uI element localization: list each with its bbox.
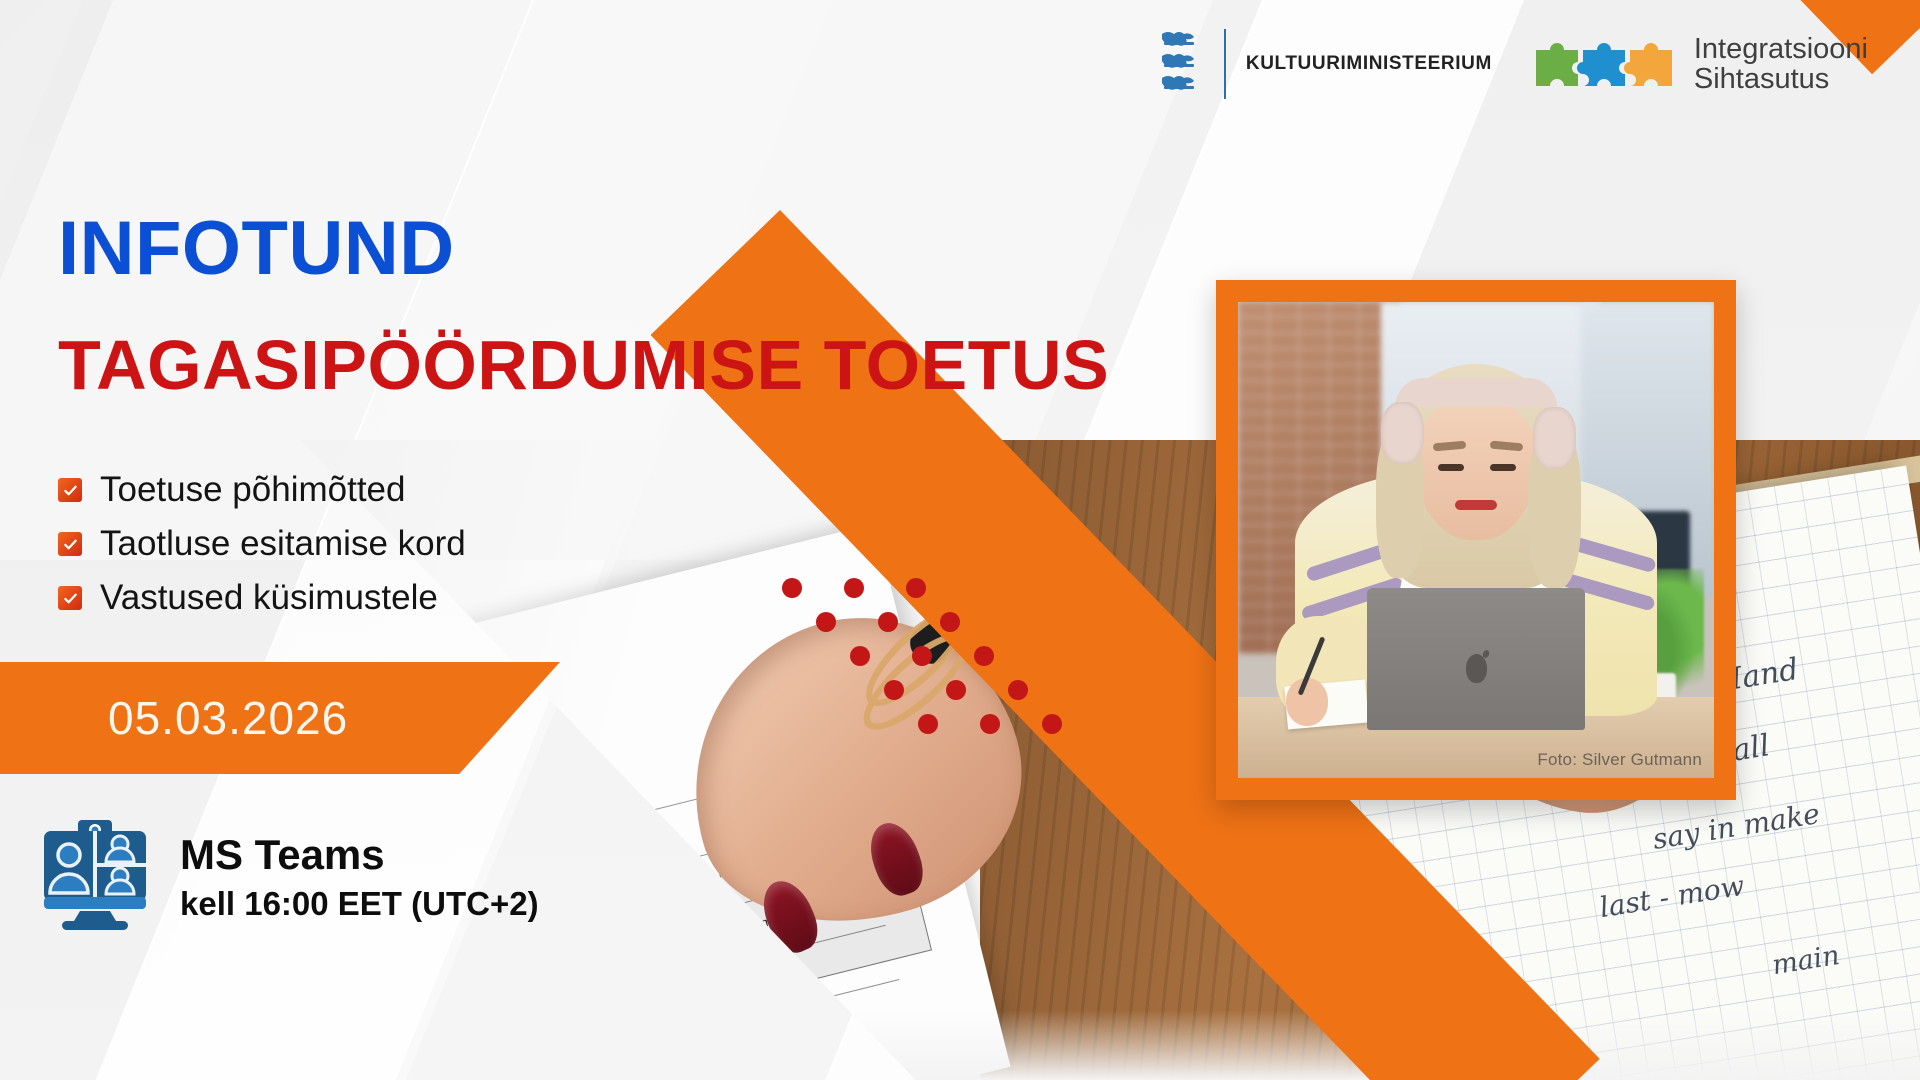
puzzle-pieces-icon — [1528, 32, 1678, 96]
bullet-list: Toetuse põhimõtted Taotluse esitamise ko… — [58, 470, 466, 632]
bullet-item: Taotluse esitamise kord — [58, 524, 466, 564]
logo-divider — [1224, 29, 1226, 99]
bullet-item: Toetuse põhimõtted — [58, 470, 466, 510]
ministry-logo: KULTUURIMINISTEERIUM — [1158, 28, 1492, 100]
photo-credit: Foto: Silver Gutmann — [1537, 750, 1702, 770]
foundation-name-line2: Sihtasutus — [1694, 64, 1868, 94]
dot-grid-decoration — [782, 578, 1062, 738]
event-date: 05.03.2026 — [108, 691, 348, 745]
bullet-label: Vastused küsimustele — [100, 578, 438, 618]
poster-canvas: the Right Hand Plead Ball say in make la… — [0, 0, 1920, 1080]
photo-image: Foto: Silver Gutmann — [1238, 302, 1714, 778]
logo-bar: KULTUURIMINISTEERIUM Integratsiooni Siht… — [1158, 28, 1868, 100]
meeting-time: kell 16:00 EET (UTC+2) — [180, 885, 539, 923]
ministry-name: KULTUURIMINISTEERIUM — [1246, 53, 1492, 75]
bullet-label: Toetuse põhimõtted — [100, 470, 405, 510]
page-title: TAGASIPÖÖRDUMISE TOETUS — [58, 325, 1109, 405]
meeting-platform: MS Teams — [180, 831, 539, 879]
bullet-label: Taotluse esitamise kord — [100, 524, 466, 564]
bullet-item: Vastused küsimustele — [58, 578, 466, 618]
checkbox-checked-icon — [58, 532, 82, 556]
meeting-text: MS Teams kell 16:00 EET (UTC+2) — [180, 831, 539, 923]
checkbox-checked-icon — [58, 586, 82, 610]
framed-photo: Foto: Silver Gutmann — [1216, 280, 1736, 800]
foundation-name: Integratsiooni Sihtasutus — [1694, 34, 1868, 95]
meeting-info: MS Teams kell 16:00 EET (UTC+2) — [36, 815, 539, 938]
checkbox-checked-icon — [58, 478, 82, 502]
video-conference-icon — [36, 815, 154, 938]
estonian-coat-of-arms-icon — [1158, 28, 1204, 100]
foundation-logo: Integratsiooni Sihtasutus — [1528, 32, 1868, 96]
eyebrow-title: INFOTUND — [58, 205, 455, 292]
foundation-name-line1: Integratsiooni — [1694, 34, 1868, 64]
